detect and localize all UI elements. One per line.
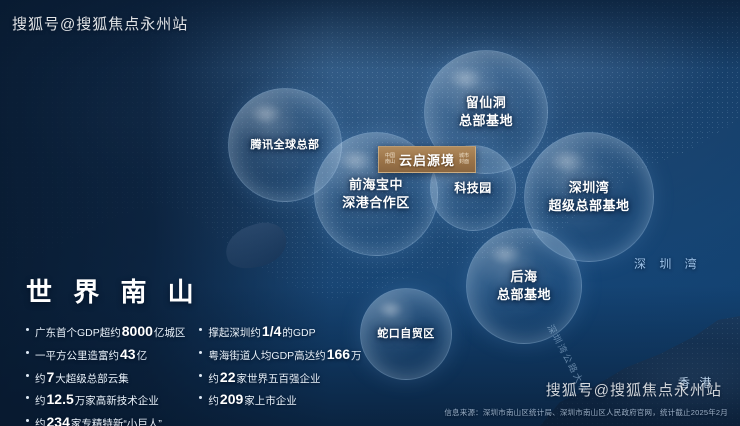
source-note: 信息来源：深圳市南山区统计局、深圳市南山区人民政府官网，统计截止2025年2月: [444, 407, 728, 418]
bullet-dot: [26, 396, 29, 399]
infographic-canvas: 腾讯全球总部 留仙洞 总部基地 前海宝中 深港合作区 科技园 深圳湾 超级总部基…: [0, 0, 740, 426]
panel-column-right: 撑起深圳约1/4的GDP 粤海街道人均GDP高达约166万 约22家世界五百强企…: [199, 323, 361, 426]
map-label-shenzhen-bay: 深 圳 湾: [634, 255, 702, 272]
bubble-label: 深圳湾 超级总部基地: [548, 179, 629, 214]
badge-left-mark: 中国 南山: [385, 154, 395, 165]
bullet-dot: [26, 328, 29, 331]
bullet-dot: [26, 374, 29, 377]
list-item: 约209家上市企业: [199, 391, 361, 408]
bullet-text: 一平方公里造富约43亿: [35, 346, 147, 363]
project-badge[interactable]: 中国 南山 云启源境 城市 封面: [378, 146, 476, 173]
bullet-dot: [26, 419, 29, 422]
bullet-text: 约7大超级总部云集: [35, 369, 129, 386]
bullet-text: 约234家专精特新“小巨人”: [35, 414, 162, 426]
badge-title: 云启源境: [399, 150, 455, 169]
bubble-houhai-base[interactable]: 后海 总部基地: [466, 228, 582, 344]
bullet-dot: [199, 396, 202, 399]
list-item: 约234家专精特新“小巨人”: [26, 414, 185, 426]
list-item: 一平方公里造富约43亿: [26, 346, 185, 363]
info-panel: 世 界 南 山 广东首个GDP超约8000亿城区 一平方公里造富约43亿 约7大…: [26, 272, 326, 426]
list-item: 约7大超级总部云集: [26, 369, 185, 386]
watermark-top-left: 搜狐号@搜狐焦点永州站: [12, 13, 188, 34]
watermark-bottom-right: 搜狐号@搜狐焦点永州站: [546, 379, 722, 400]
list-item: 粤海街道人均GDP高达约166万: [199, 346, 361, 363]
bullet-text: 粤海街道人均GDP高达约166万: [208, 346, 361, 363]
bullet-dot: [199, 351, 202, 354]
bubble-label: 蛇口自贸区: [377, 327, 435, 342]
list-item: 广东首个GDP超约8000亿城区: [26, 323, 185, 340]
bubble-label: 前海宝中 深港合作区: [342, 176, 410, 211]
panel-column-left: 广东首个GDP超约8000亿城区 一平方公里造富约43亿 约7大超级总部云集 约…: [26, 323, 185, 426]
bullet-text: 撑起深圳约1/4的GDP: [208, 323, 315, 340]
list-item: 约22家世界五百强企业: [199, 369, 361, 386]
bullet-text: 约22家世界五百强企业: [208, 369, 320, 386]
bullet-dot: [26, 351, 29, 354]
bubble-label: 科技园: [454, 180, 492, 196]
panel-columns: 广东首个GDP超约8000亿城区 一平方公里造富约43亿 约7大超级总部云集 约…: [26, 323, 326, 426]
bullet-text: 约209家上市企业: [208, 391, 296, 408]
list-item: 约12.5万家高新技术企业: [26, 391, 185, 408]
bullet-dot: [199, 328, 202, 331]
bullet-text: 约12.5万家高新技术企业: [35, 391, 159, 408]
bullet-text: 广东首个GDP超约8000亿城区: [35, 323, 185, 340]
bubble-shekou-ftz[interactable]: 蛇口自贸区: [360, 288, 452, 380]
panel-title: 世 界 南 山: [26, 272, 326, 309]
bubble-label: 留仙洞 总部基地: [459, 94, 513, 129]
bubble-label: 后海 总部基地: [497, 268, 551, 303]
badge-right-mark: 城市 封面: [459, 154, 469, 165]
bullet-dot: [199, 374, 202, 377]
list-item: 撑起深圳约1/4的GDP: [199, 323, 361, 340]
bubble-label: 腾讯全球总部: [251, 138, 320, 153]
